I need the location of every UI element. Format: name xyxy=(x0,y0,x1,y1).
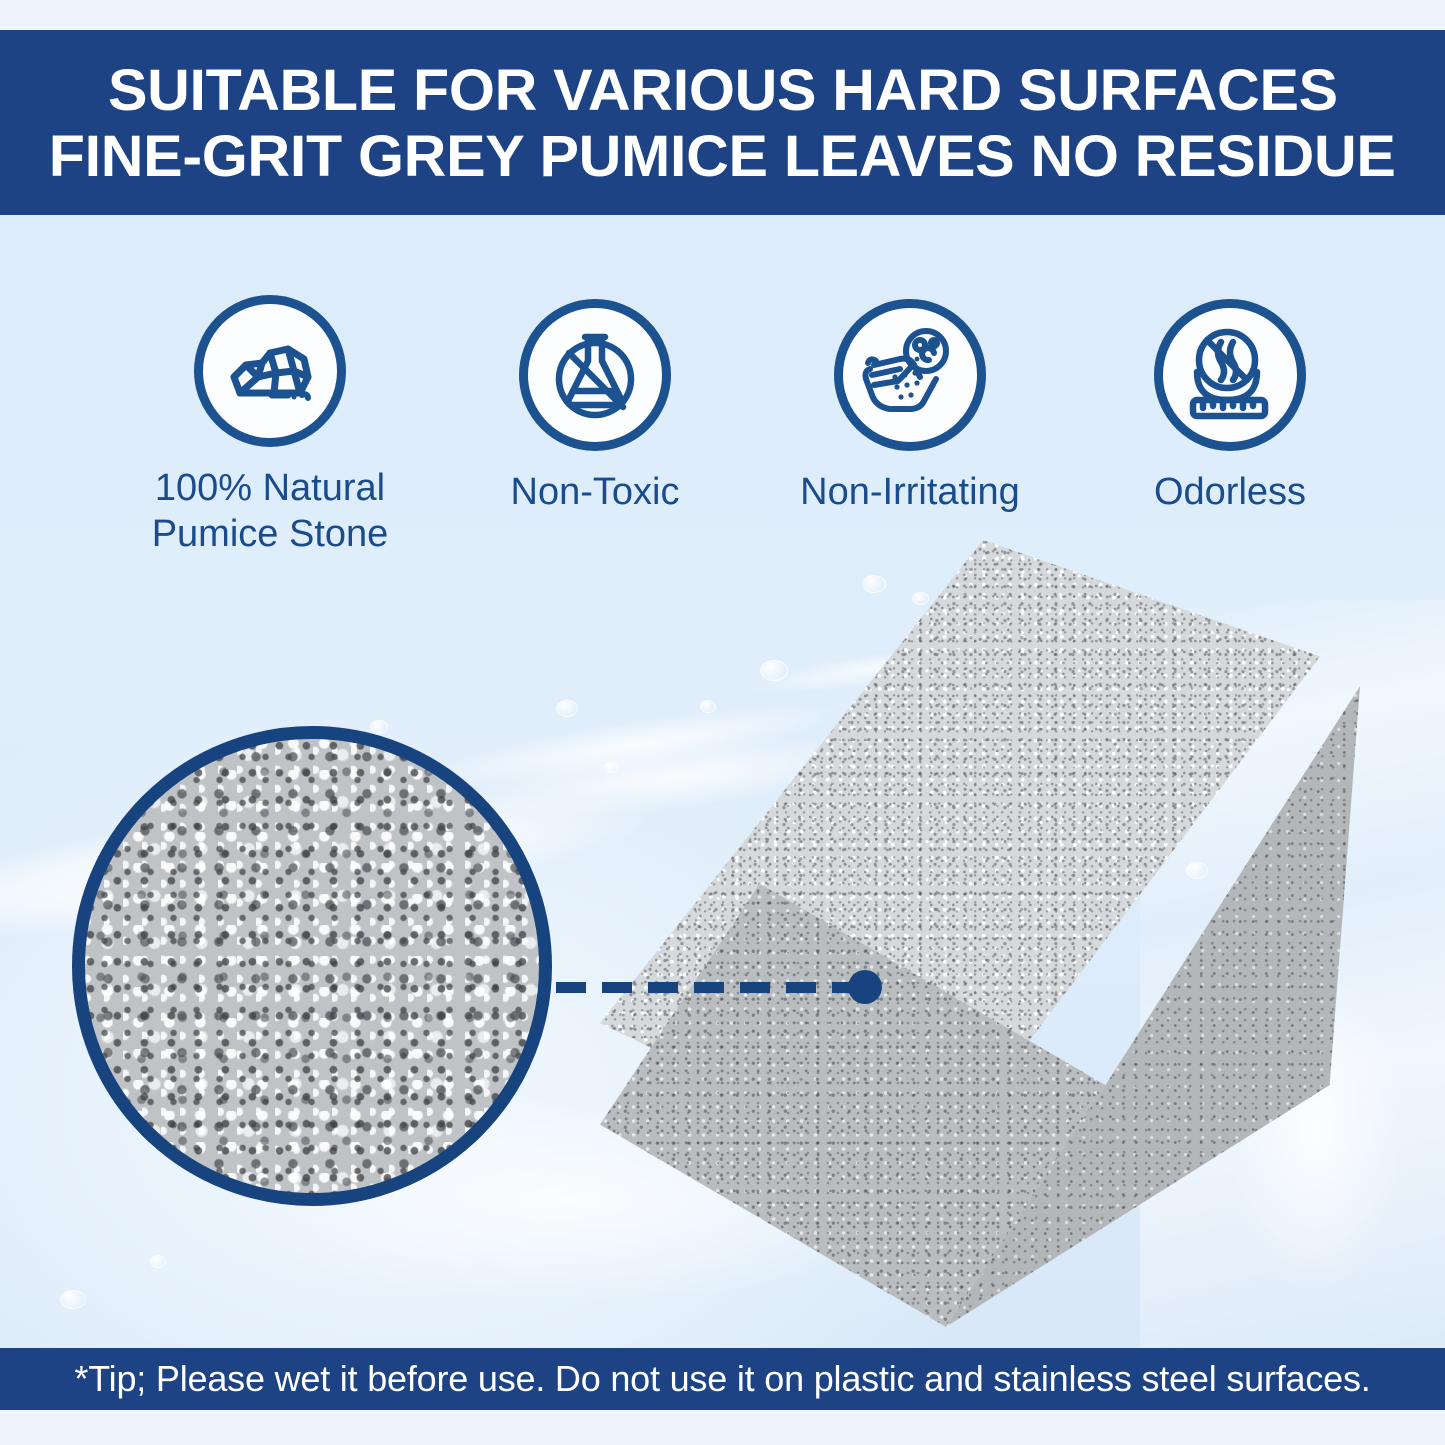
tip-text: *Tip; Please wet it before use. Do not u… xyxy=(74,1358,1370,1400)
feature-row: 100% Natural Pumice Stone Non-Toxic xyxy=(0,295,1445,565)
product-infographic: SUITABLE FOR VARIOUS HARD SURFACES FINE-… xyxy=(0,0,1445,1445)
pumice-stone-block xyxy=(600,540,1440,1330)
feature-label-non-toxic: Non-Toxic xyxy=(511,469,680,515)
header-line-2: FINE-GRIT GREY PUMICE LEAVES NO RESIDUE xyxy=(49,124,1396,190)
feature-label-non-irritating: Non-Irritating xyxy=(800,469,1020,515)
header-banner: SUITABLE FOR VARIOUS HARD SURFACES FINE-… xyxy=(0,30,1445,215)
water-droplet xyxy=(150,1255,166,1268)
water-droplet xyxy=(556,700,578,717)
tip-banner: *Tip; Please wet it before use. Do not u… xyxy=(0,1348,1445,1410)
water-droplet xyxy=(60,1290,86,1309)
header-line-1: SUITABLE FOR VARIOUS HARD SURFACES xyxy=(108,58,1338,124)
pumice-texture-detail-circle xyxy=(72,726,552,1206)
feature-item-non-irritating: Non-Irritating xyxy=(760,299,1060,515)
detail-connector-line xyxy=(556,982,861,993)
no-odor-icon xyxy=(1154,299,1306,451)
feature-item-natural-pumice: 100% Natural Pumice Stone xyxy=(135,295,405,558)
detail-connector-dot xyxy=(848,970,882,1004)
feature-item-non-toxic: Non-Toxic xyxy=(470,299,720,515)
feature-label-natural-pumice: 100% Natural Pumice Stone xyxy=(152,465,389,558)
no-chemical-flask-icon xyxy=(519,299,671,451)
water-droplet xyxy=(370,720,388,734)
rock-pile-icon xyxy=(194,295,346,447)
hand-rash-magnifier-icon xyxy=(834,299,986,451)
feature-label-odorless: Odorless xyxy=(1154,469,1306,515)
feature-item-odorless: Odorless xyxy=(1090,299,1370,515)
